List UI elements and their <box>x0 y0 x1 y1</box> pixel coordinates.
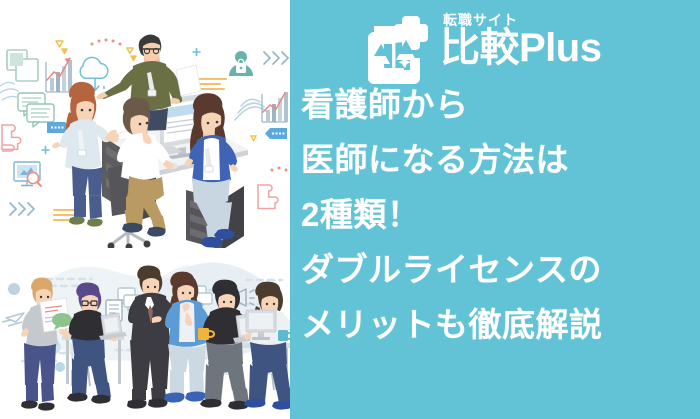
headline-line-2: 医師になる方法は <box>301 143 700 176</box>
site-logo[interactable]: 転職サイト 比較Plus <box>358 8 601 86</box>
business-consultation-illustration <box>0 248 290 419</box>
headline-line-4: ダブルライセンスの <box>301 253 700 286</box>
office-team-at-desk-illustration <box>0 0 290 250</box>
logo-wordmark: 転職サイト 比較Plus <box>440 8 601 69</box>
illustration-panel <box>0 0 290 419</box>
logo-title-text: 比較Plus <box>440 28 601 69</box>
logo-kicker-text: 転職サイト <box>443 13 518 27</box>
banner-root: 転職サイト 比較Plus 看護師から 医師になる方法は 2種類！ ダブルライセン… <box>0 0 700 419</box>
teal-content-panel: 転職サイト 比較Plus 看護師から 医師になる方法は 2種類！ ダブルライセン… <box>290 0 700 419</box>
headline-line-5: メリットも徹底解説 <box>301 308 700 341</box>
headline-block: 看護師から 医師になる方法は 2種類！ ダブルライセンスの メリットも徹底解説 <box>301 88 700 341</box>
balance-scale-plus-logo-icon <box>358 12 432 86</box>
headline-line-1: 看護師から <box>301 88 700 121</box>
headline-line-3: 2種類！ <box>301 198 700 231</box>
